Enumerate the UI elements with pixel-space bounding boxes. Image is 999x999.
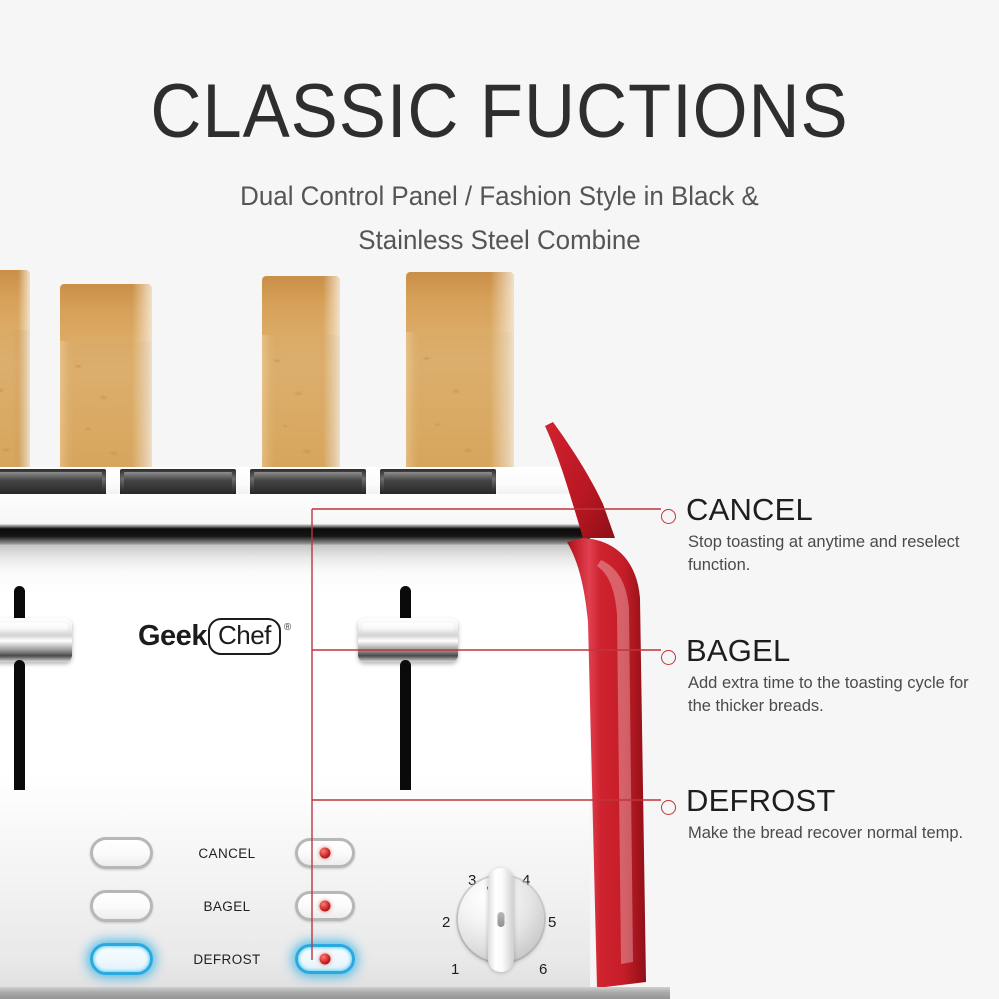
subtitle-line-1: Dual Control Panel / Fashion Style in Bl… xyxy=(20,174,979,218)
toast-slot xyxy=(380,469,496,497)
page-subtitle: Dual Control Panel / Fashion Style in Bl… xyxy=(20,174,979,262)
page-title: CLASSIC FUCTIONS xyxy=(35,72,964,152)
carriage-lever[interactable] xyxy=(0,618,72,662)
carriage-lever[interactable] xyxy=(358,618,458,662)
brand-logo: Geek Chef ® xyxy=(138,618,291,655)
cancel-button-left[interactable] xyxy=(90,837,153,869)
defrost-button-right[interactable] xyxy=(295,944,355,974)
cancel-button-right[interactable] xyxy=(295,838,355,868)
callout-marker-icon xyxy=(661,800,676,815)
cancel-led-indicator-icon xyxy=(320,848,331,859)
toast-slot xyxy=(120,469,236,497)
bagel-button-label: BAGEL xyxy=(181,899,273,914)
subtitle-line-2: Stainless Steel Combine xyxy=(20,218,979,262)
toast-slot xyxy=(250,469,366,497)
cancel-button-label: CANCEL xyxy=(181,846,273,861)
dial-number-2: 2 xyxy=(442,914,450,931)
registered-trademark-icon: ® xyxy=(284,622,291,633)
button-row-cancel: CANCEL xyxy=(90,836,355,870)
infographic-canvas: CLASSIC FUCTIONS Dual Control Panel / Fa… xyxy=(0,0,999,999)
bagel-button-left[interactable] xyxy=(90,890,153,922)
callout-marker-icon xyxy=(661,650,676,665)
header: CLASSIC FUCTIONS Dual Control Panel / Fa… xyxy=(0,0,999,262)
callout-title-defrost: DEFROST xyxy=(686,783,836,819)
toaster-highlight-band xyxy=(0,546,590,572)
defrost-button-left[interactable] xyxy=(90,943,153,975)
callout-description-bagel: Add extra time to the toasting cycle for… xyxy=(688,672,988,718)
toast-slot xyxy=(0,469,106,497)
callout-marker-icon xyxy=(661,509,676,524)
toaster-base-strip xyxy=(0,987,670,999)
dial-number-5: 5 xyxy=(548,914,556,931)
callout-title-bagel: BAGEL xyxy=(686,633,790,669)
dial-number-6: 6 xyxy=(539,961,547,978)
dial-grip[interactable] xyxy=(488,868,514,972)
button-row-defrost: DEFROST xyxy=(90,942,355,976)
lever-shaft[interactable] xyxy=(400,660,411,790)
bagel-led-indicator-icon xyxy=(320,901,331,912)
toaster-top-shadow-band xyxy=(0,524,590,546)
callout-title-cancel: CANCEL xyxy=(686,492,813,528)
defrost-led-indicator-icon xyxy=(320,954,331,965)
brand-name-secondary: Chef xyxy=(208,618,281,655)
dial-face[interactable] xyxy=(458,876,544,962)
lever-shaft[interactable] xyxy=(14,660,25,790)
callout-description-cancel: Stop toasting at anytime and reselect fu… xyxy=(688,531,988,577)
defrost-button-label: DEFROST xyxy=(181,952,273,967)
button-row-bagel: BAGEL xyxy=(90,889,355,923)
bagel-button-right[interactable] xyxy=(295,891,355,921)
brand-name-primary: Geek xyxy=(138,620,207,653)
callout-description-defrost: Make the bread recover normal temp. xyxy=(688,822,988,845)
browning-level-dial[interactable]: 3 4 2 5 1 6 xyxy=(438,864,558,989)
dial-number-1: 1 xyxy=(451,961,459,978)
